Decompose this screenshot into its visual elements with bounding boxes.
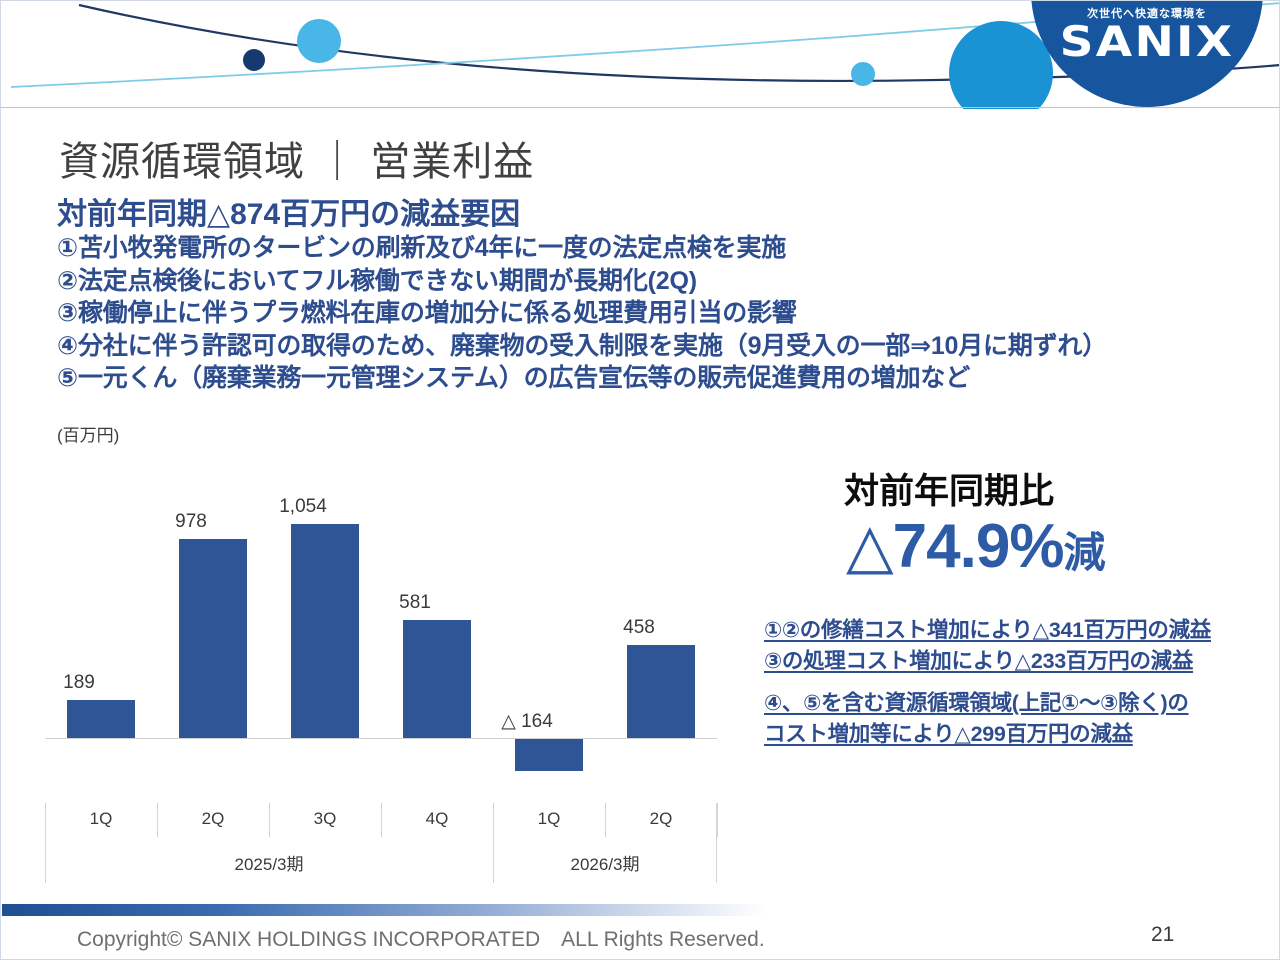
axis-divider [269,803,270,837]
note-1: ①②の修繕コスト増加により△341百万円の減益 [764,615,1264,646]
operating-profit-bar-chart: 1899781,054581△ 164458 1Q2Q3Q4Q1Q2Q 2025… [45,449,717,879]
quarter-label: 3Q [269,797,381,841]
slide-header: 次世代へ快適な環境を SANIX [1,1,1280,109]
fiscal-year-label: 2025/3期 [45,841,493,883]
bar-value-label: 978 [145,511,237,533]
chart-bar[interactable] [67,700,135,738]
page-title: 資源循環領域 ｜ 営業利益 [59,129,534,187]
chart-bar[interactable] [627,645,695,738]
page-number: 21 [1151,923,1174,947]
axis-group-divider [493,803,494,883]
decrease-factors-block: 対前年同期△874百万円の減益要因 ①苫小牧発電所のタービンの刷新及び4年に一度… [57,197,1247,395]
chart-bar[interactable] [291,524,359,738]
factor-item-3: ③稼働停止に伴うプラ燃料在庫の増加分に係る処理費用引当の影響 [57,297,1247,330]
chart-unit-label: (百万円) [57,421,119,446]
chart-bar[interactable] [515,738,583,771]
yoy-value-suffix: 減 [1063,529,1104,576]
logo-wordmark: SANIX [1017,20,1277,64]
bar-value-label: 581 [369,592,461,614]
bar-value-label: 1,054 [257,496,349,518]
chart-category-axis: 1Q2Q3Q4Q1Q2Q 2025/3期2026/3期 [45,797,717,883]
factor-item-5: ⑤一元くん（廃棄業務一元管理システム）の広告宣伝等の販売促進費用の増加など [57,362,1247,395]
explanatory-notes: ①②の修繕コスト増加により△341百万円の減益 ③の処理コスト増加により△233… [764,615,1264,749]
quarter-label: 4Q [381,797,493,841]
axis-group-divider [716,803,717,883]
factor-item-4: ④分社に伴う許認可の取得のため、廃棄物の受入制限を実施（9月受入の一部⇒10月に… [57,330,1247,363]
note-2: ③の処理コスト増加により△233百万円の減益 [764,646,1264,677]
axis-divider [381,803,382,837]
chart-bar[interactable] [179,539,247,738]
axis-divider [157,803,158,837]
axis-divider [717,803,718,837]
bar-value-label: 458 [593,617,685,639]
header-divider [1,107,1280,108]
copyright-text: Copyright© SANIX HOLDINGS INCORPORATED A… [77,923,765,953]
axis-group-divider [45,803,46,883]
bar-value-label: △ 164 [481,710,573,733]
chart-zero-axis [45,738,717,739]
chart-bar[interactable] [403,620,471,738]
yoy-heading: 対前年同期比 [844,463,1054,514]
yoy-value-number: △74.9% [846,512,1063,581]
axis-divider [605,803,606,837]
quarter-label: 1Q [45,797,157,841]
slide: 次世代へ快適な環境を SANIX 資源循環領域 ｜ 営業利益 対前年同期△874… [0,0,1280,960]
note-3: ④、⑤を含む資源循環領域(上記①～③除く)の [764,688,1264,719]
factor-item-2: ②法定点検後においてフル稼働できない期間が長期化(2Q) [57,265,1247,298]
quarter-label: 2Q [157,797,269,841]
fiscal-year-label: 2026/3期 [493,841,717,883]
footer-gradient-bar [2,904,767,916]
fiscal-year-row: 2025/3期2026/3期 [45,841,717,883]
factors-heading: 対前年同期△874百万円の減益要因 [57,197,1247,232]
quarter-label: 1Q [493,797,605,841]
yoy-value: △74.9%減 [846,509,1105,582]
quarter-row: 1Q2Q3Q4Q1Q2Q [45,797,717,841]
bar-value-label: 189 [33,672,125,694]
quarter-label: 2Q [605,797,717,841]
factor-item-1: ①苫小牧発電所のタービンの刷新及び4年に一度の法定点検を実施 [57,232,1247,265]
note-4: コスト増加等により△299百万円の減益 [764,719,1264,750]
